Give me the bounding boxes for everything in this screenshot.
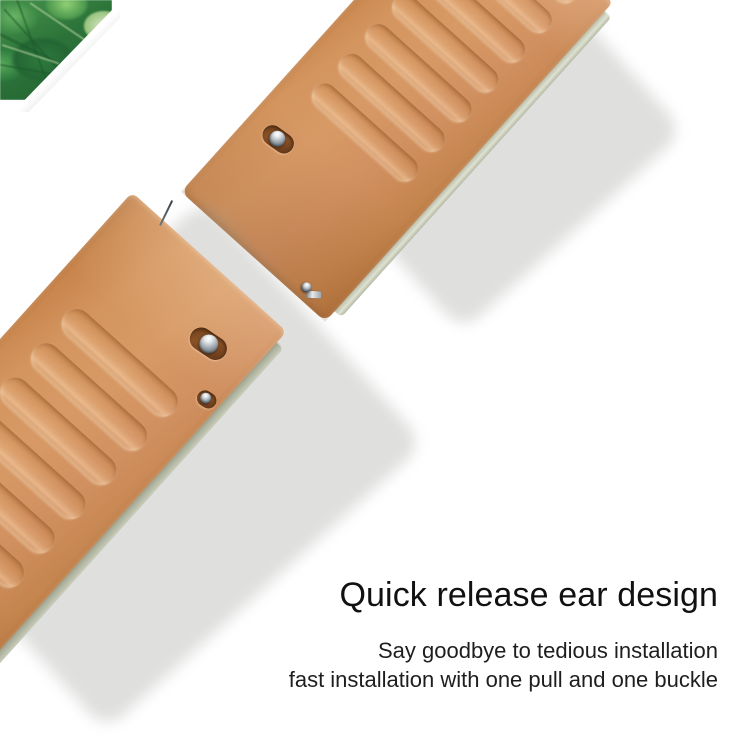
upper-strap-ribs: [181, 0, 613, 322]
pin-hole-ball: [198, 391, 213, 406]
upper-strap: [181, 0, 613, 322]
caption-line-1: Say goodbye to tedious installation: [289, 636, 718, 665]
caption-subtext: Say goodbye to tedious installation fast…: [289, 636, 718, 694]
lower-strap-ribs: [0, 192, 287, 747]
leaf-backdrop: [0, 0, 112, 100]
lower-strap: [0, 192, 287, 747]
caption-line-2: fast installation with one pull and one …: [289, 665, 718, 694]
product-image: Quick release ear design Say goodbye to …: [0, 0, 750, 750]
page-title: Quick release ear design: [340, 574, 719, 616]
